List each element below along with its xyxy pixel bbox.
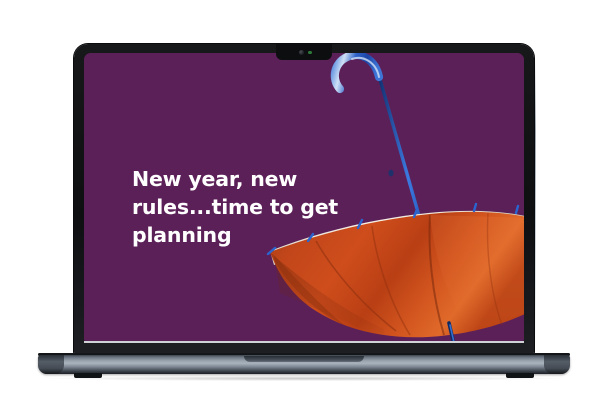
lid-edge-highlight-right [534, 58, 536, 348]
camera-indicator-icon [308, 51, 312, 54]
slide-headline: New year, new rules...time to get planni… [132, 165, 372, 249]
screen-chin-highlight [84, 341, 524, 343]
laptop-base-groove [244, 356, 364, 362]
mockup-stage: New year, new rules...time to get planni… [0, 0, 607, 415]
laptop-base-edge-right [544, 355, 570, 374]
laptop-screen: New year, new rules...time to get planni… [84, 53, 524, 341]
laptop-drop-shadow [44, 376, 564, 381]
laptop-base-edge-left [38, 355, 64, 374]
webcam-icon [299, 50, 304, 55]
camera-notch [276, 44, 332, 60]
